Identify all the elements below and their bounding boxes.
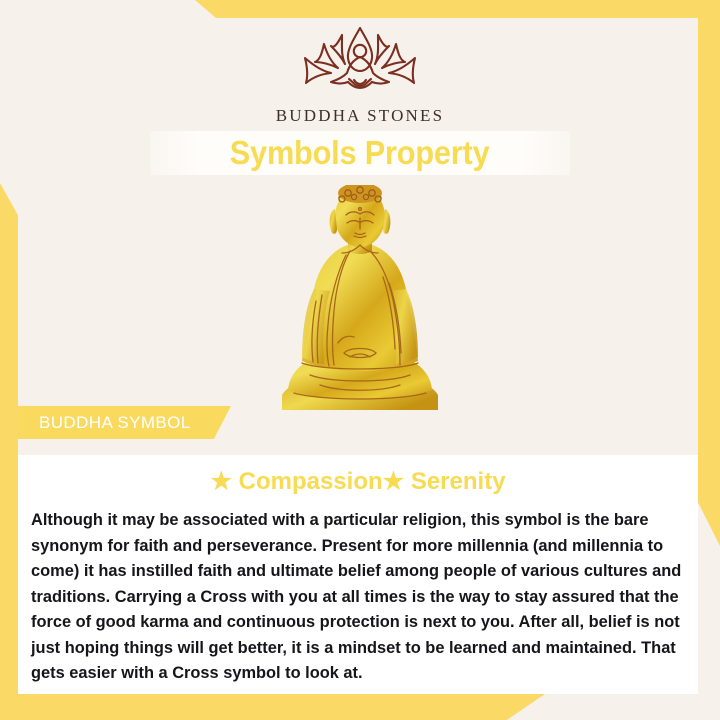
content-paragraph: Although it may be associated with a par…: [18, 496, 698, 687]
decor-band-top: [195, 0, 720, 18]
hero-image: [0, 182, 720, 410]
decor-band-bottom: [0, 694, 545, 720]
section-ribbon: BUDDHA SYMBOL: [17, 406, 231, 439]
lotus-meditation-icon: [285, 22, 435, 100]
ribbon-label: BUDDHA SYMBOL: [17, 413, 191, 433]
brand-logo: BUDDHA STONES: [0, 22, 720, 126]
content-panel: ★ Compassion★ Serenity Although it may b…: [18, 455, 698, 694]
seated-buddha-statue-icon: [250, 185, 470, 410]
page-title: Symbols Property: [230, 134, 490, 172]
title-banner: Symbols Property: [150, 131, 570, 175]
content-subheading: ★ Compassion★ Serenity: [18, 455, 698, 496]
poster-root: BUDDHA STONES Symbols Property: [0, 0, 720, 720]
brand-name: BUDDHA STONES: [276, 106, 445, 126]
